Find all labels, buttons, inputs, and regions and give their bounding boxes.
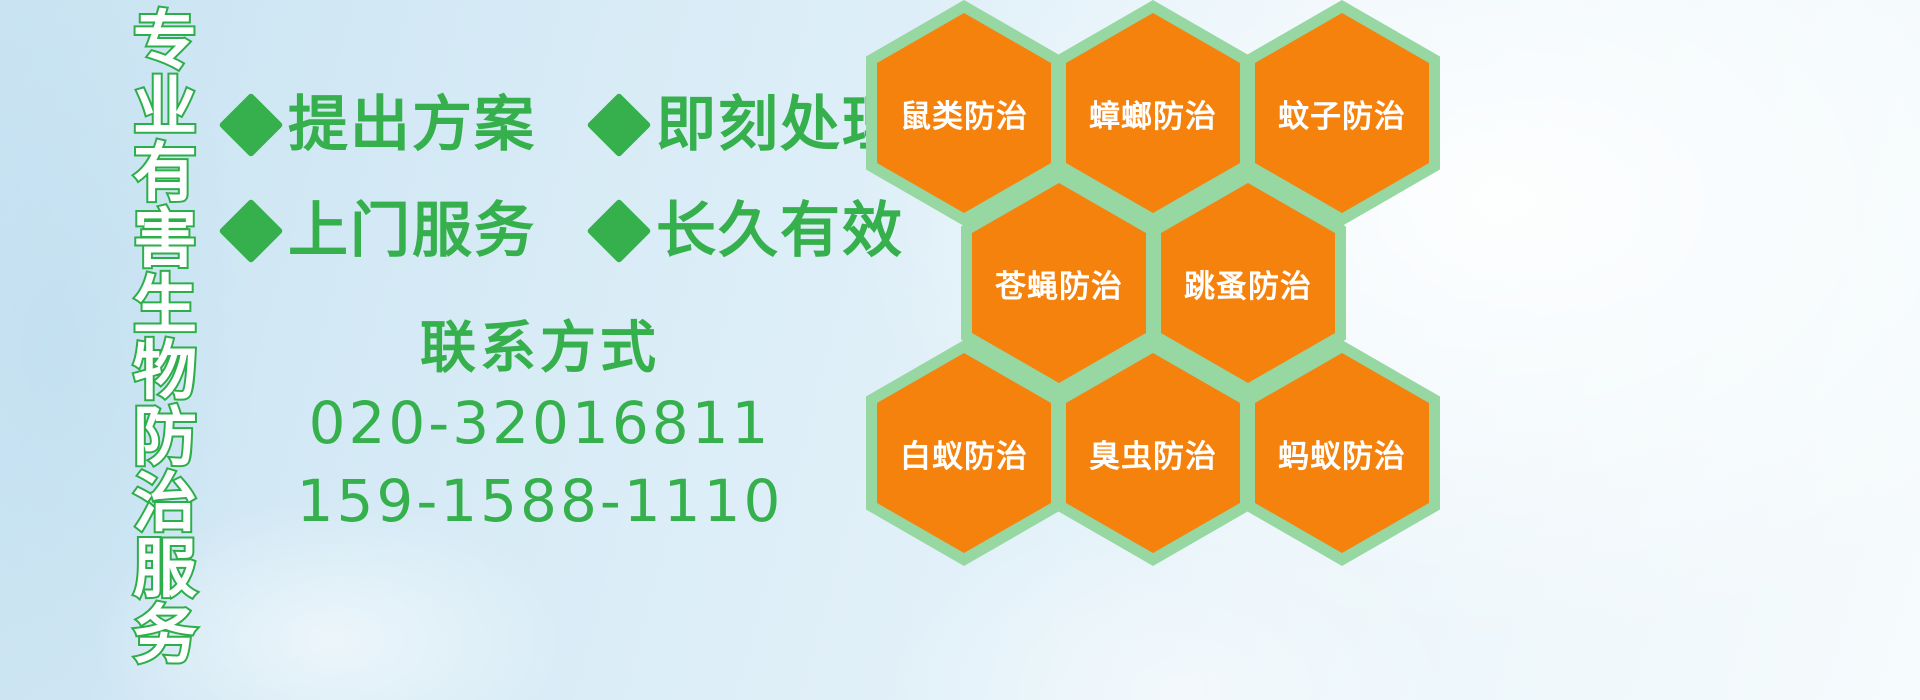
hex-label: 臭虫防治 (1089, 431, 1217, 476)
hex-label: 鼠类防治 (900, 91, 1028, 136)
feature-row: 上门服务 长久有效 (228, 198, 904, 264)
feature-item-immediate-handling: 即刻处理 (596, 92, 904, 158)
hex-cell-bedbug-control[interactable]: 臭虫防治 (1055, 340, 1251, 566)
hex-cell-ant-control[interactable]: 蚂蚁防治 (1244, 340, 1440, 566)
service-honeycomb: 鼠类防治 蟑螂防治 蚊子防治 苍蝇防治 跳蚤防治 (862, 0, 1462, 700)
vertical-headline-char: 服 (133, 536, 197, 602)
hex-cell-termite-control[interactable]: 白蚁防治 (866, 340, 1062, 566)
hex-label: 苍蝇防治 (995, 261, 1123, 306)
hex-label: 蚂蚁防治 (1278, 431, 1406, 476)
vertical-headline-char: 务 (133, 602, 197, 668)
vertical-headline-char: 害 (133, 206, 197, 272)
feature-item-onsite-service: 上门服务 (228, 198, 536, 264)
vertical-headline-char: 有 (133, 140, 197, 206)
contact-phone-landline[interactable]: 020-32016811 (230, 384, 850, 462)
feature-item-long-lasting: 长久有效 (596, 198, 904, 264)
contact-heading: 联系方式 (230, 312, 850, 384)
diamond-icon (586, 198, 651, 263)
feature-row: 提出方案 即刻处理 (228, 92, 904, 158)
diamond-icon (218, 198, 283, 263)
vertical-headline-char: 防 (133, 404, 197, 470)
hex-label: 蚊子防治 (1278, 91, 1406, 136)
hex-label: 白蚁防治 (900, 431, 1028, 476)
vertical-headline-char: 专 (133, 8, 197, 74)
vertical-headline-char: 物 (133, 338, 197, 404)
feature-label: 提出方案 (288, 92, 536, 158)
contact-phone-mobile[interactable]: 159-1588-1110 (230, 462, 850, 540)
diamond-icon (586, 92, 651, 157)
contact-block: 联系方式 020-32016811 159-1588-1110 (230, 312, 850, 540)
vertical-headline-char: 治 (133, 470, 197, 536)
hex-label: 跳蚤防治 (1184, 261, 1312, 306)
pest-control-promo-banner: 专 业 有 害 生 物 防 治 服 务 提出方案 即刻处理 上门服务 长久有效 (0, 0, 1920, 700)
vertical-headline-char: 业 (133, 74, 197, 140)
vertical-headline: 专 业 有 害 生 物 防 治 服 务 (110, 8, 220, 668)
hex-label: 蟑螂防治 (1089, 91, 1217, 136)
diamond-icon (218, 92, 283, 157)
feature-item-propose-plan: 提出方案 (228, 92, 536, 158)
feature-label: 上门服务 (288, 198, 536, 264)
vertical-headline-char: 生 (133, 272, 197, 338)
